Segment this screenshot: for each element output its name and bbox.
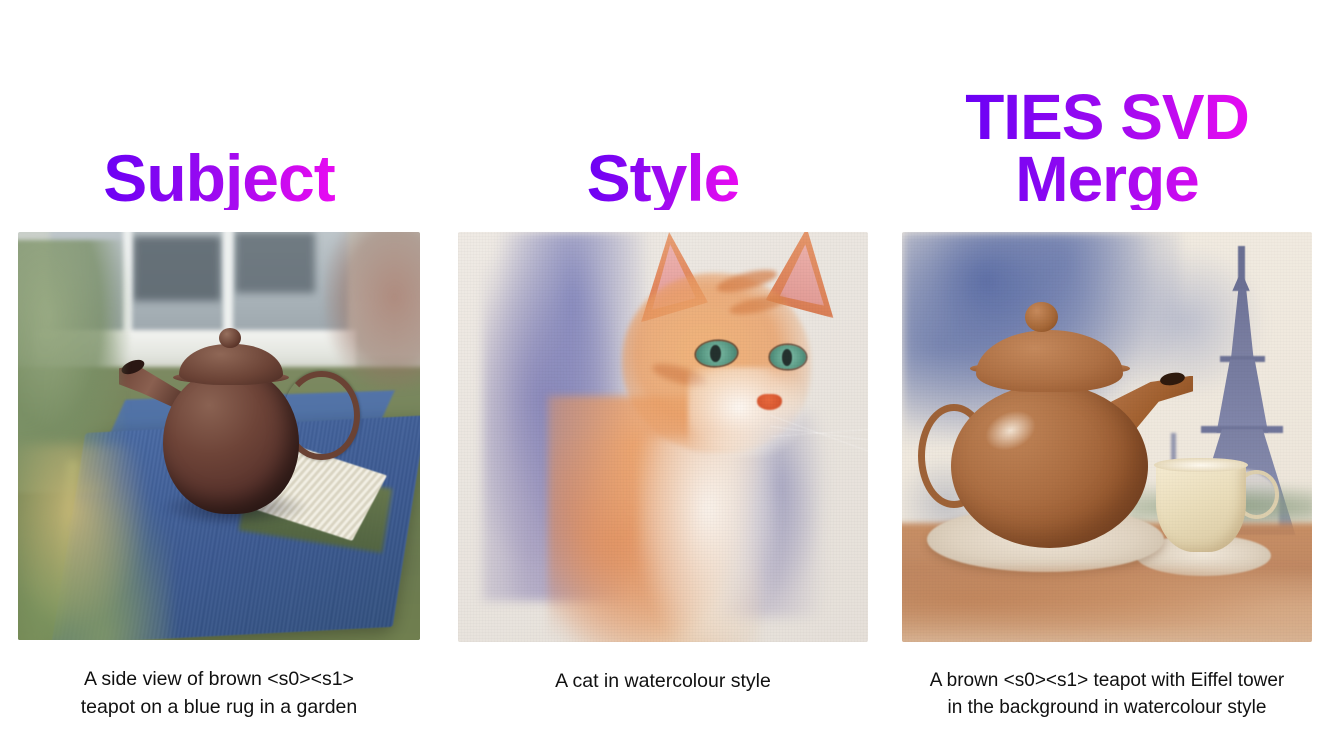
column-ties-svd-merge: TIES SVD Merge	[902, 0, 1312, 752]
column-title-style: Style	[587, 147, 740, 210]
heading-zone-subject: Subject	[18, 0, 420, 232]
merged-watercolour-teapot-eiffel	[902, 232, 1312, 642]
column-style: Style	[458, 0, 868, 752]
photo-window-pane-left	[133, 236, 221, 301]
cat-paper-texture	[458, 232, 868, 642]
caption-subject: A side view of brown <s0><s1> teapot on …	[18, 666, 420, 721]
cat-scene	[458, 232, 868, 642]
column-title-subject: Subject	[103, 147, 334, 210]
photo-window-pane-right	[235, 232, 315, 293]
photo-scene	[18, 232, 420, 640]
subject-teapot-photo	[18, 232, 420, 640]
merge-scene	[902, 232, 1312, 642]
caption-style: A cat in watercolour style	[458, 668, 868, 696]
merge-paper-texture	[902, 232, 1312, 642]
column-subject: Subject	[18, 0, 420, 752]
figure-root: Subject	[0, 0, 1332, 752]
heading-zone-ties-svd-merge: TIES SVD Merge	[902, 0, 1312, 232]
caption-ties-svd-merge: A brown <s0><s1> teapot with Eiffel towe…	[902, 668, 1312, 722]
column-title-ties-svd-merge: TIES SVD Merge	[965, 87, 1249, 210]
photo-teapot-body	[163, 367, 300, 514]
photo-bush-right	[324, 232, 420, 391]
style-watercolour-cat	[458, 232, 868, 642]
photo-foreground-foliage	[18, 444, 171, 640]
heading-zone-style: Style	[458, 0, 868, 232]
